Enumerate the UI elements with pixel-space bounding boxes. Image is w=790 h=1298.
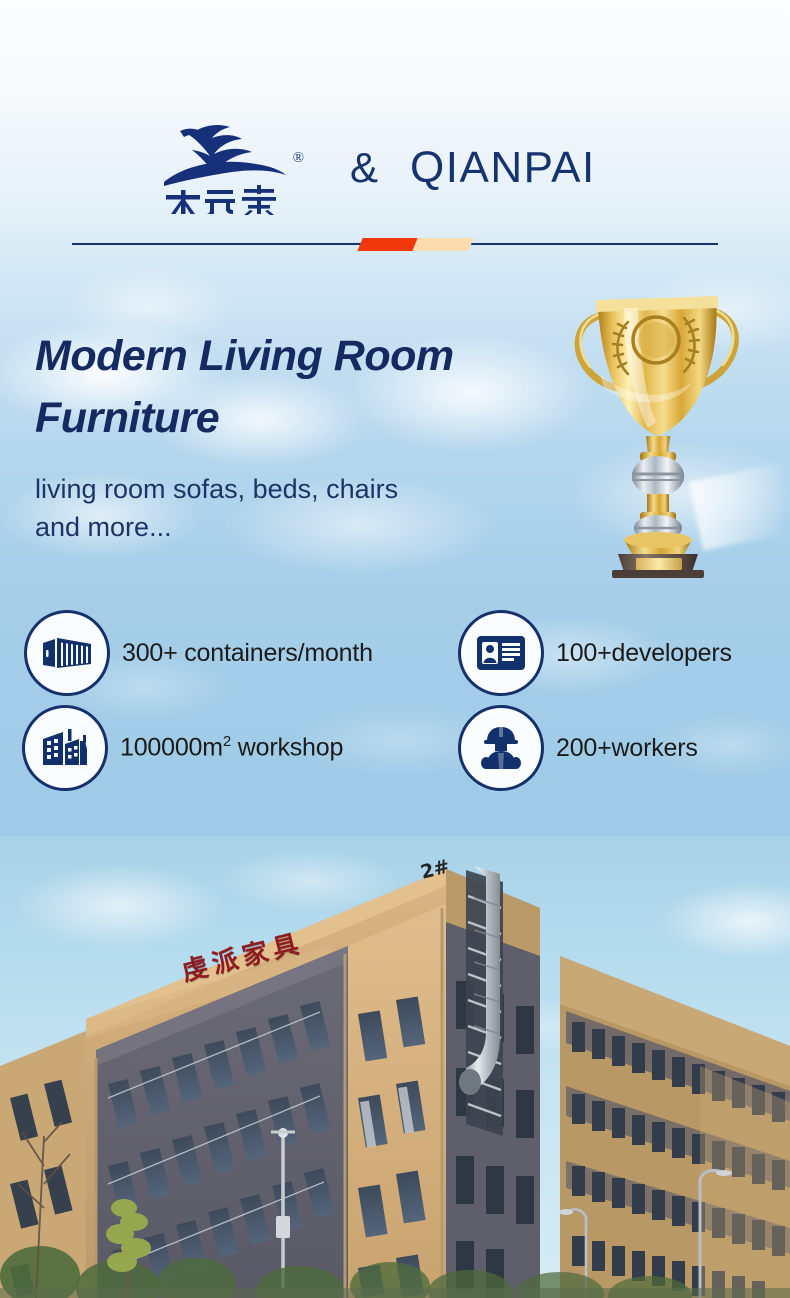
banner-header: ® & QIANPAI (0, 0, 790, 260)
trophy-image (552, 278, 790, 578)
feature-icon-wrapper (24, 610, 110, 696)
factory-building-photo (0, 836, 790, 1298)
subheadline-line-1: living room sofas, beds, chairs (35, 470, 515, 508)
feature-icon-wrapper (458, 610, 544, 696)
subheadline-line-2: and more... (35, 508, 515, 546)
divider-accent-secondary (412, 238, 473, 251)
workshop-area-exponent: 2 (223, 733, 231, 750)
feature-label-workshop: 100000m2 workshop (120, 733, 343, 762)
feature-item-containers: 300+ containers/month (24, 610, 373, 696)
gold-trophy-icon (552, 278, 790, 578)
feature-label-containers: 300+ containers/month (122, 639, 373, 668)
registered-trademark-icon: ® (293, 150, 304, 167)
workshop-area-value: 100000m (120, 734, 223, 762)
feature-icon-wrapper (458, 705, 544, 791)
feature-label-developers: 100+developers (556, 639, 732, 668)
headline-line-1: Modern Living Room (35, 325, 565, 387)
hero-subheadline: living room sofas, beds, chairs and more… (35, 470, 515, 546)
feature-stats-grid: 300+ containers/month 100+de (0, 600, 790, 800)
hero-headline: Modern Living Room Furniture (35, 325, 565, 449)
header-divider (72, 238, 718, 252)
shipping-container-icon (41, 633, 93, 673)
promotional-banner: ® & QIANPAI Modern Living Room Furniture… (0, 0, 790, 1298)
ampersand-separator: & (350, 144, 378, 192)
feature-item-workers: 200+workers (458, 705, 698, 791)
feature-item-workshop: 100000m2 workshop (22, 705, 343, 791)
brand-lockup: ® & QIANPAI (160, 120, 596, 216)
company-logo: ® (160, 120, 290, 216)
factory-buildings-icon (39, 727, 91, 769)
id-card-icon (476, 634, 526, 672)
divider-accent-primary (357, 238, 418, 251)
feature-icon-wrapper (22, 705, 108, 791)
building-illustration (0, 836, 790, 1298)
bird-wave-logo-icon (160, 120, 290, 216)
feature-item-developers: 100+developers (458, 610, 732, 696)
workshop-area-suffix: workshop (231, 734, 343, 762)
brand-name: QIANPAI (410, 143, 596, 193)
headline-line-2: Furniture (35, 387, 565, 449)
feature-label-workers: 200+workers (556, 734, 698, 763)
worker-helmet-icon (478, 725, 524, 771)
